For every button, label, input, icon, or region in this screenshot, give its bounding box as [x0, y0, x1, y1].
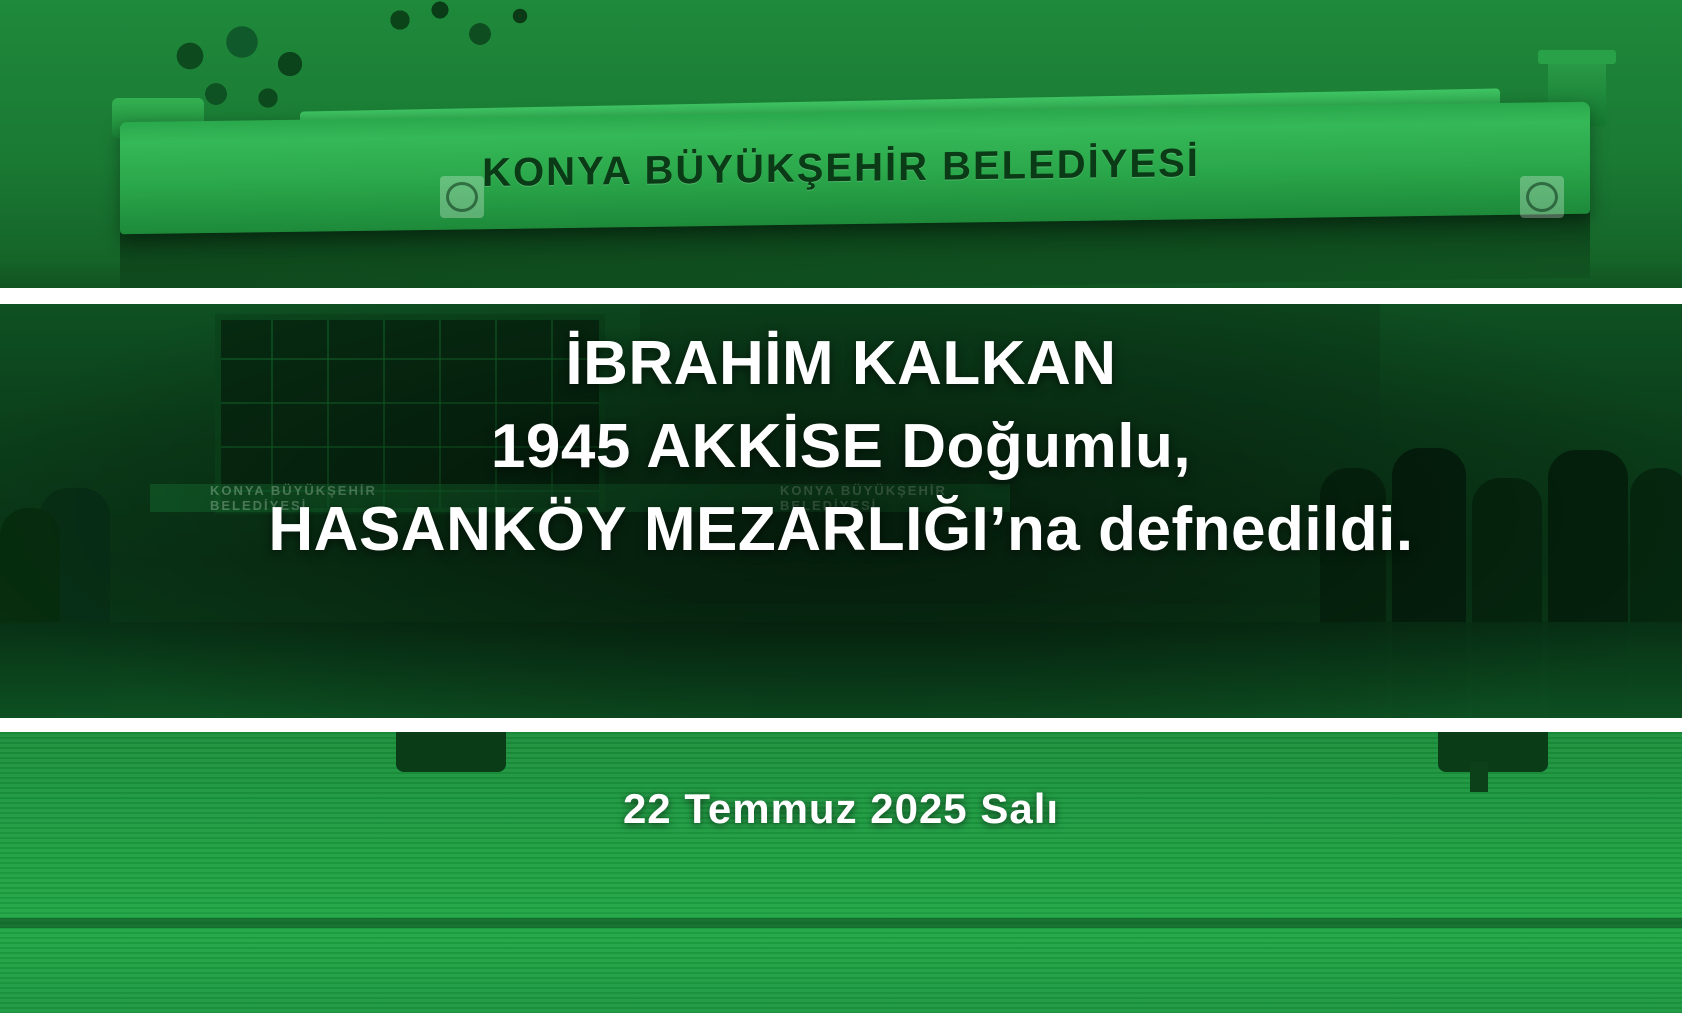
cart-wheel — [1438, 732, 1548, 772]
headline-line-birth: 1945 AKKİSE Doğumlu, — [0, 405, 1682, 488]
separator-bottom — [0, 718, 1682, 732]
announcement-poster: KONYA BÜYÜKŞEHİR BELEDİYESİ KONYA BÜYÜKŞ… — [0, 0, 1682, 1013]
headline-block: İBRAHİM KALKAN 1945 AKKİSE Doğumlu, HASA… — [0, 322, 1682, 571]
separator-top — [0, 288, 1682, 304]
date-text: 22 Temmuz 2025 Salı — [0, 785, 1682, 833]
headline-line-name: İBRAHİM KALKAN — [0, 322, 1682, 405]
bottom-photo-band — [0, 732, 1682, 1013]
headline-line-burial: HASANKÖY MEZARLIĞI’na defnedildi. — [0, 488, 1682, 571]
organization-banner-text: KONYA BÜYÜKŞEHİR BELEDİYESİ — [0, 0, 1682, 288]
cart-wheel — [396, 732, 506, 772]
top-photo-band: KONYA BÜYÜKŞEHİR BELEDİYESİ — [0, 0, 1682, 288]
carpet-edge — [0, 918, 1682, 928]
